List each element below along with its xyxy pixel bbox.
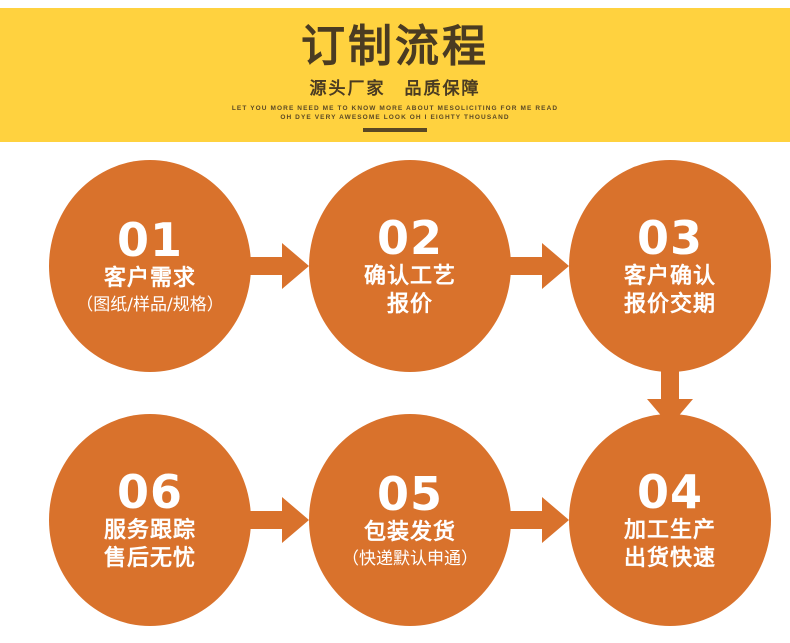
flow-step-01[interactable]: 01 客户需求 （图纸/样品/规格）: [49, 160, 251, 372]
flow-step-04[interactable]: 04 加工生产 出货快速: [569, 414, 771, 626]
flow-step-04-label-2: 出货快速: [624, 545, 716, 573]
flow-step-02[interactable]: 02 确认工艺 报价: [309, 160, 511, 372]
flow-step-06-number: 06: [117, 467, 183, 517]
flow-step-03[interactable]: 03 客户确认 报价交期: [569, 160, 771, 372]
flow-step-01-number: 01: [117, 215, 183, 265]
header-banner-content: 订制流程 源头厂家 品质保障 LET YOU MORE NEED ME TO K…: [0, 8, 790, 132]
flow-step-06-label-2: 售后无忧: [104, 545, 196, 573]
header-banner: 订制流程 源头厂家 品质保障 LET YOU MORE NEED ME TO K…: [0, 8, 790, 142]
flow-step-02-number: 02: [377, 213, 443, 263]
flow-step-02-label: 确认工艺: [364, 263, 456, 291]
flow-step-01-note: （图纸/样品/规格）: [76, 293, 223, 317]
flow-step-05[interactable]: 05 包装发货 （快递默认申通）: [309, 414, 511, 626]
flow-step-05-label: 包装发货: [364, 519, 456, 547]
arrow-right-icon-01-to-02: [249, 243, 309, 289]
flow-step-05-note: （快递默认申通）: [342, 547, 478, 571]
flow-step-01-label: 客户需求: [104, 265, 196, 293]
flow-step-05-number: 05: [377, 469, 443, 519]
flow-step-04-label: 加工生产: [624, 517, 716, 545]
banner-english-line-2: OH DYE VERY AWESOME LOOK OH I EIGHTY THO…: [0, 113, 790, 122]
flow-step-06[interactable]: 06 服务跟踪 售后无忧: [49, 414, 251, 626]
arrow-right-icon-02-to-03: [509, 243, 569, 289]
flow-step-04-number: 04: [637, 467, 703, 517]
banner-english-line-1: LET YOU MORE NEED ME TO KNOW MORE ABOUT …: [0, 100, 790, 113]
flow-step-03-number: 03: [637, 213, 703, 263]
flow-step-03-label: 客户确认: [624, 263, 716, 291]
flow-step-02-label-2: 报价: [387, 291, 433, 319]
banner-divider: [363, 128, 427, 132]
process-flow-diagram: 01 客户需求 （图纸/样品/规格） 02 确认工艺 报价 03 客户确认 报价…: [0, 142, 790, 643]
flow-step-06-label: 服务跟踪: [104, 517, 196, 545]
arrow-right-icon-06-to-05: [249, 497, 309, 543]
arrow-down-icon-03-to-04: [647, 364, 693, 426]
page-subtitle: 源头厂家 品质保障: [0, 72, 790, 100]
arrow-right-icon-05-to-04: [509, 497, 569, 543]
page-title: 订制流程: [0, 8, 790, 72]
flow-step-03-label-2: 报价交期: [624, 291, 716, 319]
